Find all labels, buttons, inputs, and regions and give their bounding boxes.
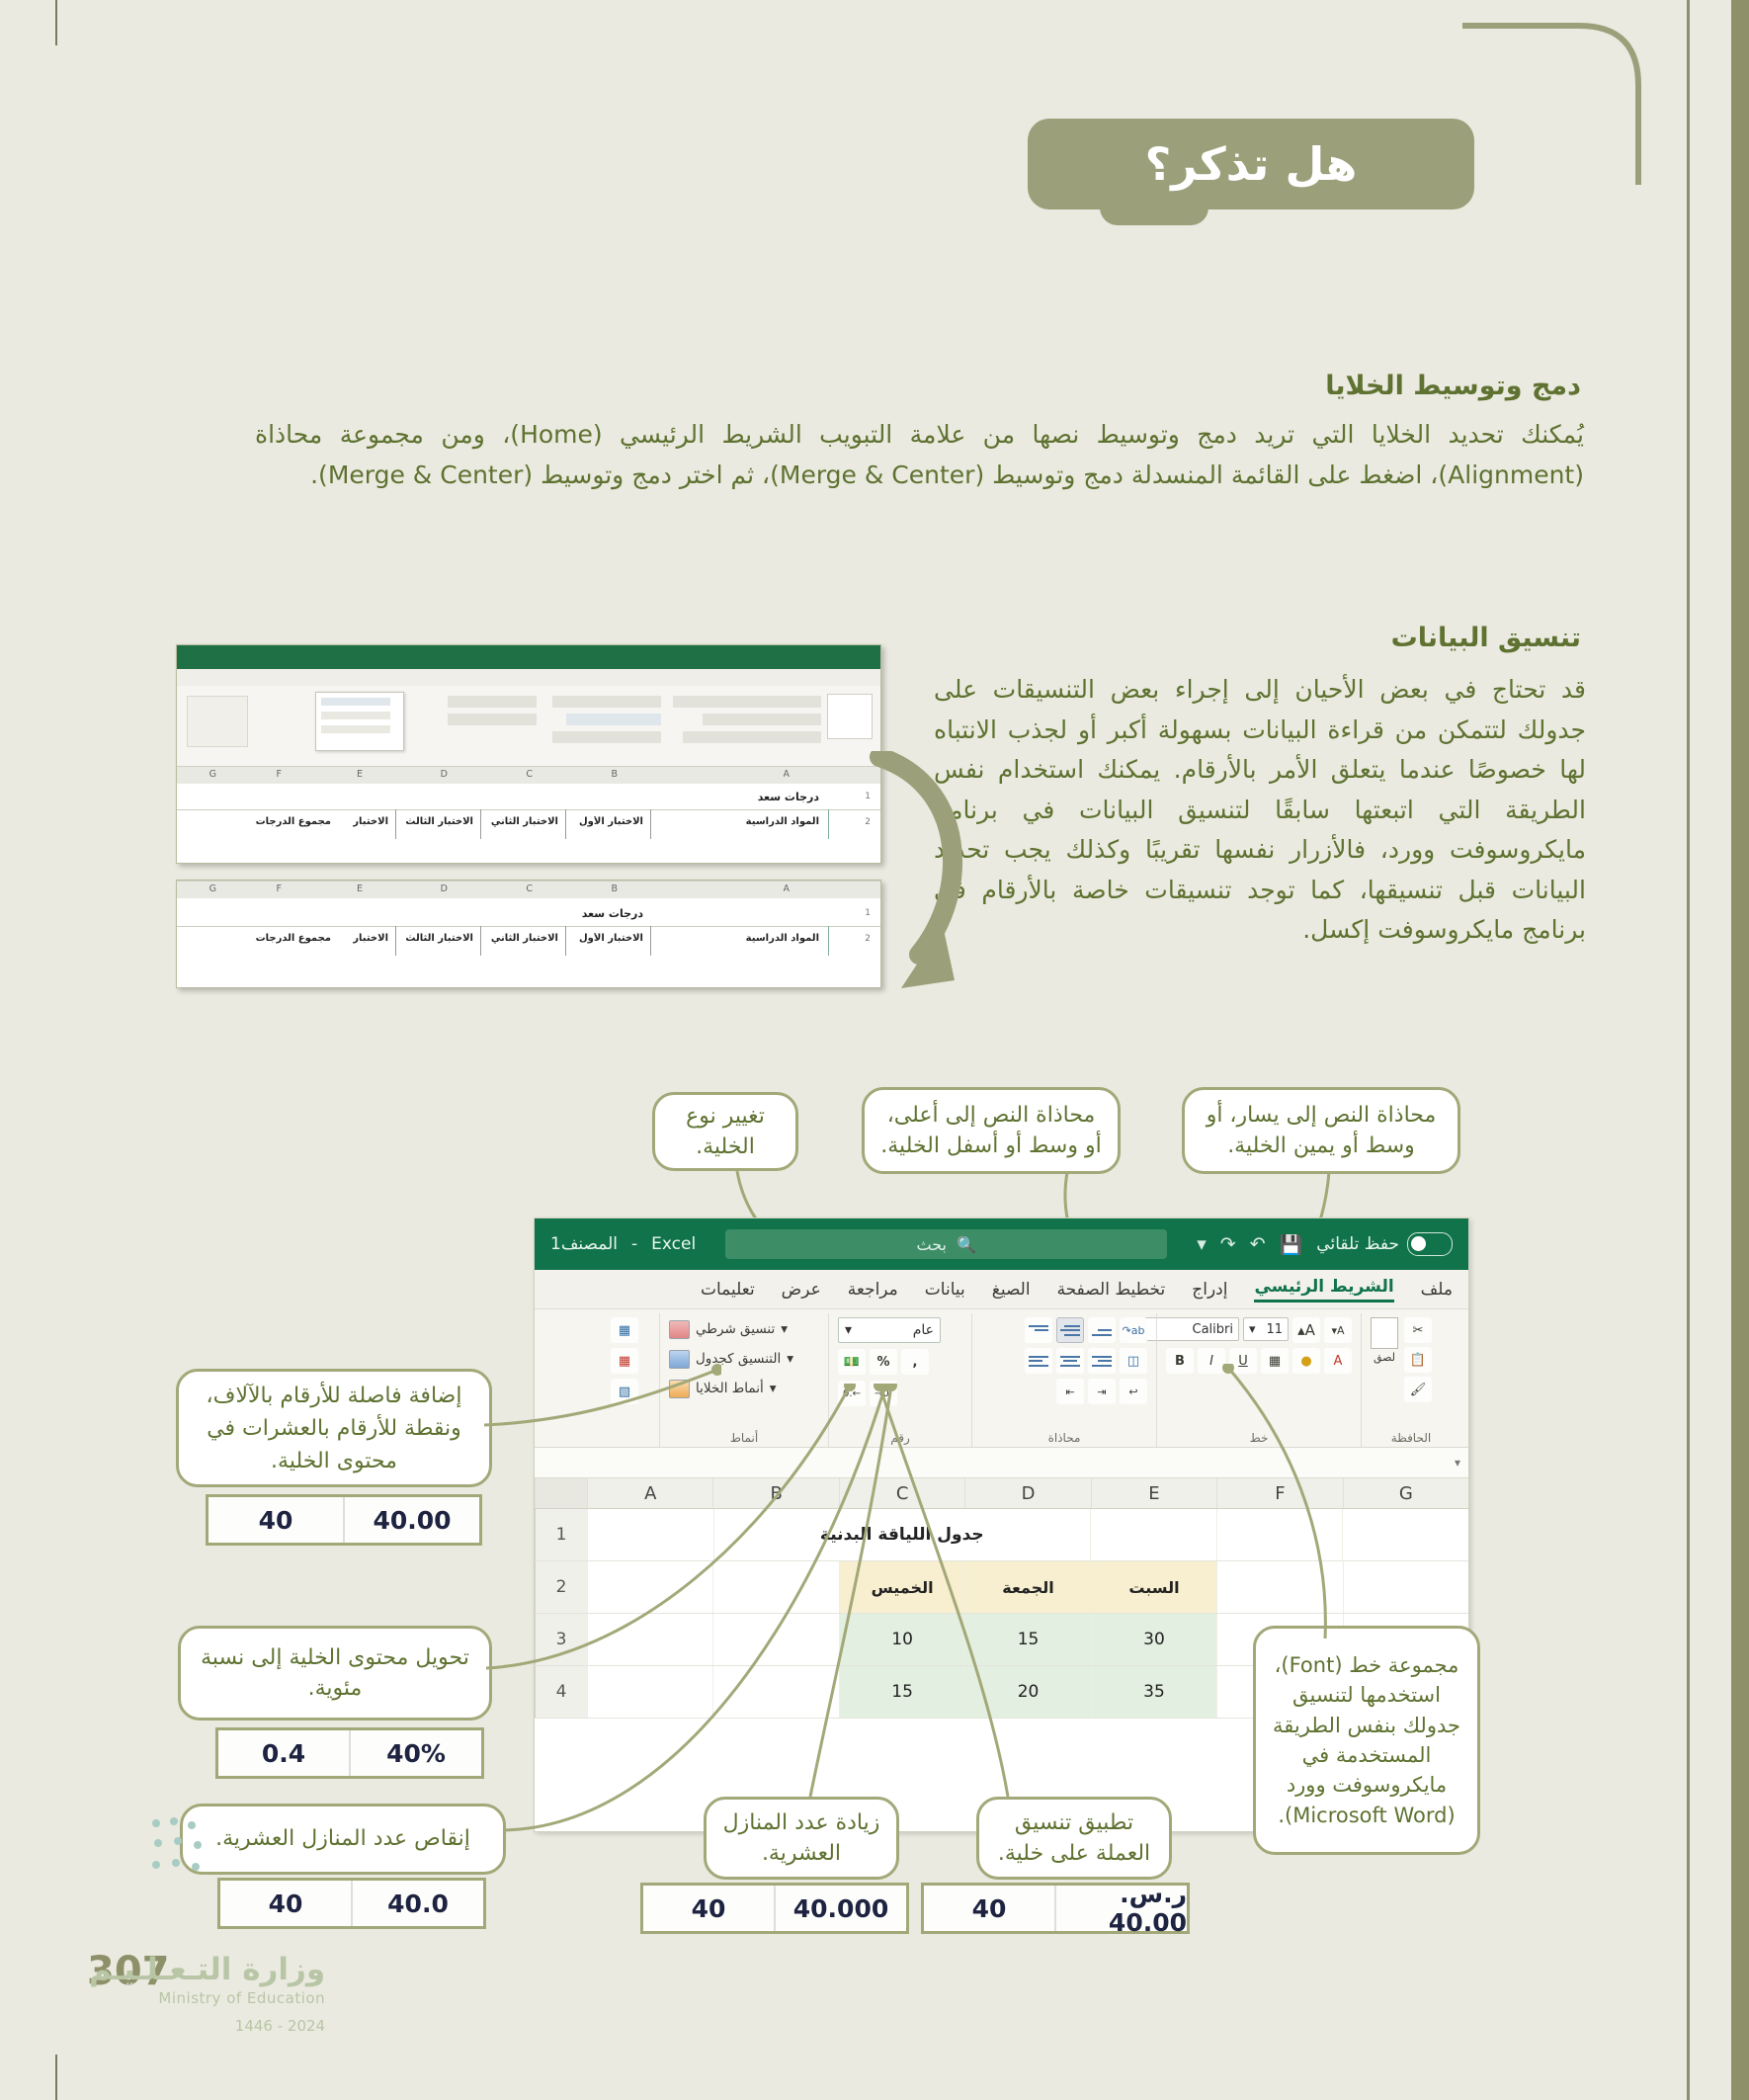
column-header-E[interactable]: E xyxy=(1091,1478,1216,1508)
excel-thumbnails: A B C D E F G درجات سعد 1 2 المواد الدرا… xyxy=(176,644,879,990)
callout-vertical-align: محاذاة النص إلى أعلى، أو وسط أو أسفل الخ… xyxy=(862,1087,1121,1174)
value-before-increase-decimal: 40 xyxy=(643,1886,776,1931)
grow-font-icon[interactable]: A▴ xyxy=(1292,1317,1320,1343)
chevron-down-icon: ▾ xyxy=(781,1321,788,1337)
excel-formula-bar[interactable]: ▾ xyxy=(535,1448,1468,1478)
paste-icon[interactable] xyxy=(1371,1317,1398,1349)
decrease-indent-icon[interactable]: ⇤ xyxy=(1056,1379,1084,1404)
ministry-name-en: Ministry of Education xyxy=(89,1989,325,2007)
chevron-down-icon[interactable]: ▾ xyxy=(845,1322,852,1338)
copy-icon[interactable]: 📋 xyxy=(1404,1347,1432,1373)
ribbon-group-number: عام ▾ 💵 % , ←.0 .0→ رقم xyxy=(829,1313,972,1447)
value-before-thousands: 40 xyxy=(208,1497,345,1543)
cell-G2[interactable] xyxy=(1343,1561,1468,1613)
excel-ribbon: لصق ✂ 📋 🖌 الحافظة Calibri ▾ xyxy=(535,1309,1468,1448)
cell-sat-r2[interactable]: 35 xyxy=(1091,1666,1216,1718)
mini-header-test1: الاختبار الأول xyxy=(579,816,643,827)
mini-tab-strip xyxy=(177,669,880,686)
tab-file[interactable]: ملف xyxy=(1421,1280,1453,1300)
column-header-C[interactable]: C xyxy=(839,1478,964,1508)
ribbon-group-font: Calibri ▾ 11 ▾ A▴ A▾ B I U ▦ ● A xyxy=(1157,1313,1362,1447)
ministry-logo: وزارة التـعـلـيـم Ministry of Education … xyxy=(89,1952,325,2035)
insert-cells-icon[interactable]: ▦ xyxy=(611,1317,638,1343)
value-box-increase-decimal: 40.000 40 xyxy=(640,1883,909,1934)
mini-header-test4: الاختبار xyxy=(353,816,388,827)
value-after-currency: ر.س. 40.00 xyxy=(1056,1886,1187,1931)
column-header-G[interactable]: G xyxy=(1343,1478,1468,1508)
format-cells-icon[interactable]: ▧ xyxy=(611,1379,638,1404)
remember-banner-title: هل تذكر؟ xyxy=(1145,137,1358,191)
page-edge-rule xyxy=(1687,0,1690,2100)
value-before-currency: 40 xyxy=(924,1886,1056,1931)
tab-home[interactable]: الشريط الرئيسي xyxy=(1254,1277,1393,1302)
italic-button[interactable]: I xyxy=(1198,1348,1225,1374)
format-as-table-label: التنسيق كجدول xyxy=(696,1351,781,1367)
banner-curve-decoration xyxy=(1462,22,1650,185)
format-as-table-icon xyxy=(669,1350,690,1369)
autosave-toggle[interactable]: حفظ تلقائي xyxy=(1316,1232,1453,1256)
row-header-1[interactable]: 1 xyxy=(535,1509,587,1560)
column-header-F[interactable]: F xyxy=(1216,1478,1342,1508)
chevron-down-icon: ▾ xyxy=(787,1351,793,1367)
ribbon-group-clipboard: لصق ✂ 📋 🖌 الحافظة xyxy=(1362,1313,1460,1447)
align-center-icon[interactable] xyxy=(1056,1348,1084,1374)
cell-A3[interactable] xyxy=(587,1614,712,1665)
cell-styles-label: أنماط الخلايا xyxy=(696,1381,764,1396)
merge-center-icon[interactable]: ◫ xyxy=(1120,1348,1147,1374)
value-after-decrease-decimal: 40.0 xyxy=(353,1881,483,1926)
search-input[interactable]: 🔍 بحث xyxy=(725,1229,1167,1259)
excel-thumbnail-after: A B C D E F G درجات سعد 1 2 المواد الدرا… xyxy=(176,880,881,988)
select-all-corner[interactable] xyxy=(535,1478,587,1508)
fill-color-icon[interactable]: ● xyxy=(1292,1348,1320,1374)
cell-styles-icon xyxy=(669,1380,690,1398)
cell-fri-r2[interactable]: 20 xyxy=(964,1666,1090,1718)
value-after-percent: 40% xyxy=(351,1730,481,1776)
cell-thu-r2[interactable]: 15 xyxy=(839,1666,964,1718)
tab-data[interactable]: بيانات xyxy=(925,1280,965,1300)
mini-header-test4-2: الاختبار xyxy=(353,933,388,944)
mini-title-bar xyxy=(177,645,880,669)
paste-label: لصق xyxy=(1374,1351,1395,1364)
orientation-icon[interactable]: ab↷ xyxy=(1120,1317,1147,1343)
page-edge-band xyxy=(1731,0,1749,2100)
delete-cells-icon[interactable]: ▦ xyxy=(611,1348,638,1374)
value-box-thousands-separator: 40.00 40 xyxy=(206,1494,482,1546)
cell-B4[interactable] xyxy=(712,1666,838,1718)
format-painter-icon[interactable]: 🖌 xyxy=(1404,1377,1432,1402)
mini-header-subjects-2: المواد الدراسية xyxy=(746,933,819,944)
font-name-value: Calibri xyxy=(1193,1322,1233,1337)
row-header-4[interactable]: 4 xyxy=(535,1666,587,1718)
cell-day-friday[interactable]: الجمعة xyxy=(964,1561,1090,1613)
search-placeholder: بحث xyxy=(917,1235,948,1254)
chevron-down-icon[interactable]: ▾ xyxy=(1455,1456,1460,1470)
underline-button[interactable]: U xyxy=(1229,1348,1257,1374)
align-right-icon[interactable] xyxy=(1025,1348,1052,1374)
chevron-down-icon: ▾ xyxy=(770,1381,777,1396)
app-name: Excel xyxy=(651,1234,696,1254)
decrease-decimal-icon[interactable]: .0→ xyxy=(870,1381,897,1406)
cell-thu-r1[interactable]: 10 xyxy=(839,1614,964,1665)
cell-day-thursday[interactable]: الخميس xyxy=(839,1561,964,1613)
undo-icon[interactable]: ↶ xyxy=(1250,1233,1266,1255)
mini-header-total-2: مجموع الدرجات xyxy=(256,933,331,944)
wrap-text-icon[interactable]: ↩ xyxy=(1120,1379,1147,1404)
value-box-percent-format: 40% 0.4 xyxy=(215,1727,484,1779)
cell-fri-r1[interactable]: 15 xyxy=(964,1614,1090,1665)
save-icon[interactable]: 💾 xyxy=(1280,1233,1303,1256)
cell-A4[interactable] xyxy=(587,1666,712,1718)
document-name: المصنف1 xyxy=(550,1234,618,1254)
mini-header-test3-2: الاختبار الثالث xyxy=(405,933,473,944)
publication-year: 2024 - 1446 xyxy=(89,2017,325,2035)
font-size-input[interactable]: 11 ▾ xyxy=(1243,1317,1289,1341)
mini-header-test3: الاختبار الثالث xyxy=(405,816,473,827)
banner-tail xyxy=(1100,196,1208,225)
excel-ribbon-tabs: ملف الشريط الرئيسي إدراج تخطيط الصفحة ال… xyxy=(535,1270,1468,1309)
column-header-D[interactable]: D xyxy=(964,1478,1090,1508)
font-color-icon[interactable]: A xyxy=(1324,1348,1352,1374)
mini-header-test1-2: الاختبار الأول xyxy=(579,933,643,944)
cell-E1[interactable] xyxy=(1090,1509,1216,1560)
value-box-currency-format: ر.س. 40.00 40 xyxy=(921,1883,1190,1934)
row-header-3[interactable]: 3 xyxy=(535,1614,587,1665)
ribbon-group-alignment: ab↷ ◫ ⇤ ⇥ ↩ محاذاة xyxy=(972,1313,1157,1447)
cell-styles-button[interactable]: ▾ أنماط الخلايا xyxy=(669,1377,777,1400)
row-header-2[interactable]: 2 xyxy=(535,1561,587,1613)
group-label-styles: أنماط xyxy=(660,1431,828,1445)
group-label-font: خط xyxy=(1157,1431,1361,1445)
mini-table-title-2: درجات سعد xyxy=(582,907,643,920)
number-format-value: عام xyxy=(913,1322,934,1338)
chevron-down-icon[interactable]: ▾ xyxy=(1197,1233,1207,1255)
mini-ribbon-tools xyxy=(177,686,880,766)
tab-view[interactable]: عرض xyxy=(782,1280,821,1300)
cell-B3[interactable] xyxy=(712,1614,838,1665)
value-after-thousands: 40.00 xyxy=(345,1497,479,1543)
autosave-label: حفظ تلقائي xyxy=(1316,1234,1399,1254)
redo-icon[interactable]: ↷ xyxy=(1220,1233,1236,1255)
cell-F1[interactable] xyxy=(1216,1509,1343,1560)
tab-page-layout[interactable]: تخطيط الصفحة xyxy=(1057,1280,1166,1300)
ribbon-group-cells: ▦ ▦ ▧ xyxy=(590,1313,660,1447)
cell-A1[interactable] xyxy=(587,1509,713,1560)
cell-B2[interactable] xyxy=(712,1561,838,1613)
currency-icon[interactable]: 💵 xyxy=(838,1349,866,1375)
search-icon: 🔍 xyxy=(957,1235,976,1254)
conditional-formatting-label: تنسيق شرطي xyxy=(696,1321,775,1337)
decorative-dots xyxy=(148,1813,217,1883)
column-header-A[interactable]: A xyxy=(587,1478,712,1508)
align-left-icon[interactable] xyxy=(1088,1348,1116,1374)
callout-cell-type: تغيير نوع الخلية. xyxy=(652,1092,798,1171)
section-title-format: تنسيق البيانات xyxy=(1166,623,1581,653)
value-before-decrease-decimal: 40 xyxy=(220,1881,353,1926)
callout-percent-format: تحويل محتوى الخلية إلى نسبة مئوية. xyxy=(178,1626,492,1721)
align-top-icon[interactable] xyxy=(1025,1317,1052,1343)
mini-ribbon xyxy=(177,645,880,766)
shrink-font-icon[interactable]: A▾ xyxy=(1324,1317,1352,1343)
cell-sat-r1[interactable]: 30 xyxy=(1091,1614,1216,1665)
section-title-merge: دمج وتوسيط الخلايا xyxy=(1166,371,1581,401)
mini-column-headers-2: A B C D E F G xyxy=(177,881,880,898)
tab-formulas[interactable]: الصيغ xyxy=(992,1280,1031,1300)
remember-banner: هل تذكر؟ xyxy=(1028,119,1474,210)
increase-decimal-icon[interactable]: ←.0 xyxy=(838,1381,866,1406)
cell-title-merged[interactable]: جدول اللياقة البدنية xyxy=(713,1509,1090,1560)
align-bottom-icon[interactable] xyxy=(1088,1317,1116,1343)
increase-indent-icon[interactable]: ⇥ xyxy=(1088,1379,1116,1404)
mini-header-total: مجموع الدرجات xyxy=(256,816,331,827)
group-label-clipboard: الحافظة xyxy=(1362,1431,1460,1445)
percent-icon[interactable]: % xyxy=(870,1349,897,1375)
mini-header-test2-2: الاختبار الثاني xyxy=(491,933,558,944)
callout-horizontal-align: محاذاة النص إلى يسار، أو وسط أو يمين الخ… xyxy=(1182,1087,1460,1174)
callout-font-group: مجموعة خط (Font)، استخدمها لتنسيق جدولك … xyxy=(1253,1626,1480,1855)
format-as-table-button[interactable]: ▾ التنسيق كجدول xyxy=(669,1347,793,1371)
borders-icon[interactable]: ▦ xyxy=(1261,1348,1289,1374)
table-row: السبت الجمعة الخميس 2 xyxy=(535,1561,1468,1614)
cell-day-saturday[interactable]: السبت xyxy=(1091,1561,1216,1613)
callout-thousands-separator: إضافة فاصلة للأرقام بالآلاف، ونقطة للأرق… xyxy=(176,1369,492,1487)
section-body-format: قد تحتاج في بعض الأحيان إلى إجراء بعض ال… xyxy=(934,670,1586,951)
ribbon-group-styles: ▾ تنسيق شرطي ▾ التنسيق كجدول ▾ أنماط الخ… xyxy=(660,1313,829,1447)
bold-button[interactable]: B xyxy=(1166,1348,1194,1374)
value-after-increase-decimal: 40.000 xyxy=(776,1886,906,1931)
section-body-merge: يُمكنك تحديد الخلايا التي تريد دمج وتوسي… xyxy=(255,415,1584,495)
cell-A2[interactable] xyxy=(587,1561,712,1613)
cell-F2[interactable] xyxy=(1216,1561,1342,1613)
separator: - xyxy=(631,1234,637,1254)
scissors-icon[interactable]: ✂ xyxy=(1404,1317,1432,1343)
mini-table-title: درجات سعد xyxy=(758,791,819,803)
tab-insert[interactable]: إدراج xyxy=(1192,1280,1227,1300)
tab-review[interactable]: مراجعة xyxy=(848,1280,898,1300)
crop-mark-bottom-left-v xyxy=(55,2055,57,2100)
thumbnail-transition-arrow xyxy=(870,751,1018,998)
callout-decrease-decimal: إنقاص عدد المنازل العشرية. xyxy=(180,1804,506,1875)
tab-help[interactable]: تعليمات xyxy=(701,1280,755,1300)
value-before-percent: 0.4 xyxy=(218,1730,351,1776)
comma-style-icon[interactable]: , xyxy=(901,1349,929,1375)
mini-header-subjects: المواد الدراسية xyxy=(746,816,819,827)
mini-header-test2: الاختبار الثاني xyxy=(491,816,558,827)
font-size-value: 11 xyxy=(1266,1322,1283,1337)
excel-thumbnail-before: A B C D E F G درجات سعد 1 2 المواد الدرا… xyxy=(176,644,881,864)
excel-title-bar: حفظ تلقائي 💾 ↶ ↷ ▾ 🔍 بحث Excel - المصنف1 xyxy=(535,1218,1468,1270)
align-middle-icon[interactable] xyxy=(1056,1317,1084,1343)
table-row: جدول اللياقة البدنية 1 xyxy=(535,1509,1468,1561)
conditional-formatting-button[interactable]: ▾ تنسيق شرطي xyxy=(669,1317,788,1341)
conditional-formatting-icon xyxy=(669,1320,690,1339)
value-box-decrease-decimal: 40.0 40 xyxy=(217,1878,486,1929)
group-label-number: رقم xyxy=(829,1431,971,1445)
mini-column-headers: A B C D E F G xyxy=(177,766,880,784)
toggle-switch[interactable] xyxy=(1407,1232,1453,1256)
callout-increase-decimal: زيادة عدد المنازل العشرية. xyxy=(704,1797,899,1880)
group-label-alignment: محاذاة xyxy=(972,1431,1156,1445)
column-header-B[interactable]: B xyxy=(712,1478,838,1508)
chevron-down-icon[interactable]: ▾ xyxy=(1249,1322,1256,1337)
callout-currency-format: تطبيق تنسيق العملة على خلية. xyxy=(976,1797,1172,1880)
crop-mark-top-left-v xyxy=(55,0,57,45)
number-format-select[interactable]: عام ▾ xyxy=(838,1317,941,1343)
ministry-name-ar: وزارة التـعـلـيـم xyxy=(89,1952,325,1987)
cell-G1[interactable] xyxy=(1342,1509,1468,1560)
column-header-row: G F E D C B A xyxy=(535,1478,1468,1509)
